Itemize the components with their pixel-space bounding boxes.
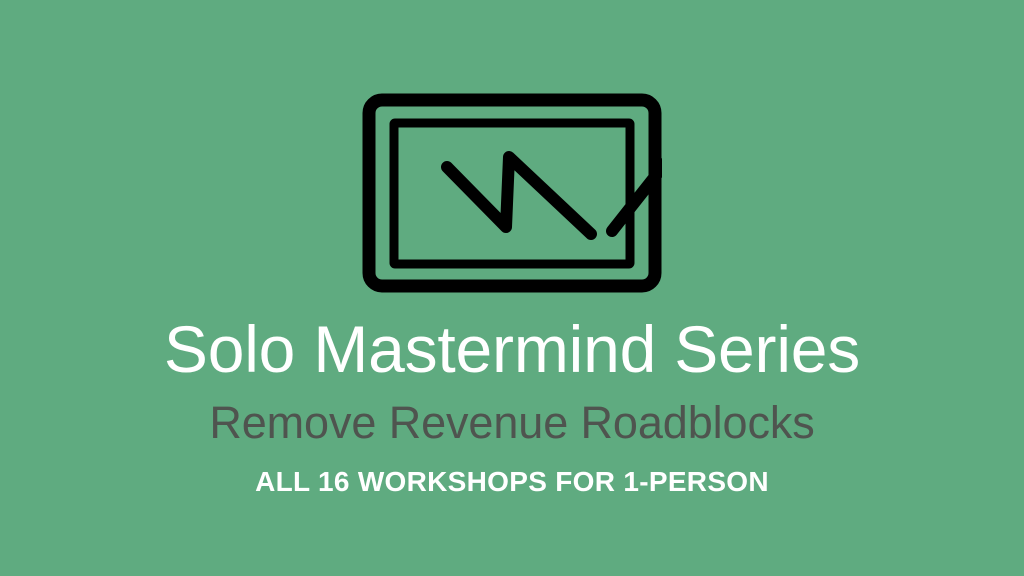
- whiteboard-scribble-icon: [362, 93, 662, 293]
- page-subtitle: Remove Revenue Roadblocks: [209, 399, 814, 446]
- scribble-stroke: [447, 157, 591, 234]
- page-title: Solo Mastermind Series: [164, 316, 860, 383]
- title-slide: Solo Mastermind Series Remove Revenue Ro…: [0, 0, 1024, 576]
- icon-container: [0, 88, 1024, 298]
- text-block: Solo Mastermind Series Remove Revenue Ro…: [0, 316, 1024, 496]
- page-tagline: ALL 16 WORKSHOPS FOR 1-PERSON: [255, 467, 769, 496]
